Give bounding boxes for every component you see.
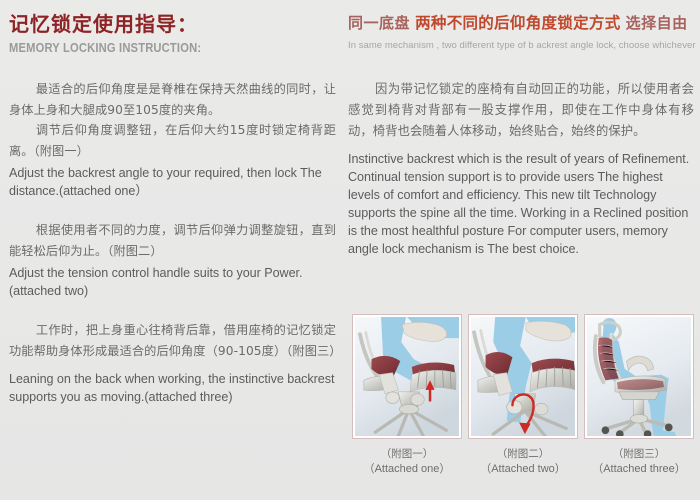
right-title-segment-b: 两种不同的后仰角度锁定方式 (415, 14, 620, 32)
figure-row: （附图一） （Attached one） (352, 314, 696, 477)
left-block-2-en-wrap: Adjust the tension control handle suits … (9, 264, 336, 300)
left-block-1-en: Adjust the backrest angle to your requir… (9, 164, 336, 200)
right-body-en-wrap: Instinctive backrest which is the result… (348, 150, 694, 258)
figure-caption-1: （附图一） （Attached one） (352, 447, 462, 477)
left-block-3-cn: 工作时，把上身重心往椅背后靠，借用座椅的记忆锁定功能帮助身体形成最适合的后仰角度… (9, 320, 336, 361)
figure-image-2 (471, 317, 575, 436)
figure-caption-3-cn: （附图三） (584, 447, 694, 462)
figure-frame-1 (352, 314, 462, 439)
left-block-3-en: Leaning on the back when working, the in… (9, 370, 336, 406)
right-body-en: Instinctive backrest which is the result… (348, 150, 694, 258)
page-title-en: MEMORY LOCKING INSTRUCTION: (9, 39, 290, 57)
chair-tilt-knob-illustration (355, 317, 459, 436)
left-block-1: 最适合的后仰角度是是脊椎在保持天然曲线的同时，让身体上身和大腿成90至105度的… (9, 79, 336, 200)
chair-seated-posture-illustration (587, 317, 691, 436)
figure-attached-one: （附图一） （Attached one） (352, 314, 462, 477)
chair-tension-knob-illustration (471, 317, 575, 436)
poster-page: 记忆锁定使用指导： MEMORY LOCKING INSTRUCTION: 最适… (0, 0, 700, 500)
right-title-en: In same mechanism , two different type o… (348, 39, 694, 53)
figure-caption-2: （附图二） （Attached two） (468, 447, 578, 477)
left-block-1-cn-1: 最适合的后仰角度是是脊椎在保持天然曲线的同时，让身体上身和大腿成90至105度的… (9, 79, 336, 120)
right-title: 同一底盘 两种不同的后仰角度锁定方式 选择自由 (348, 12, 694, 34)
figure-caption-3-en: （Attached three） (584, 462, 694, 477)
left-block-2: 根据使用者不同的力度，调节后仰弹力调整旋钮，直到能轻松后仰为止。（附图二） Ad… (9, 220, 336, 300)
figure-frame-2 (468, 314, 578, 439)
right-title-segment-c: 选择自由 (626, 14, 688, 32)
figure-attached-two: （附图二） （Attached two） (468, 314, 578, 477)
figure-caption-1-cn: （附图一） (352, 447, 462, 462)
figure-frame-3 (584, 314, 694, 439)
figure-image-3 (587, 317, 691, 436)
figure-attached-three: （附图三） （Attached three） (584, 314, 694, 477)
left-block-2-cn: 根据使用者不同的力度，调节后仰弹力调整旋钮，直到能轻松后仰为止。（附图二） (9, 220, 336, 261)
left-block-3-en-wrap: Leaning on the back when working, the in… (9, 370, 336, 406)
figure-caption-2-cn: （附图二） (468, 447, 578, 462)
left-block-2-en: Adjust the tension control handle suits … (9, 264, 336, 300)
right-body-cn: 因为带记忆锁定的座椅有自动回正的功能，所以使用者会感觉到椅背对背部有一股支撑作用… (348, 79, 694, 142)
left-column: 记忆锁定使用指导： MEMORY LOCKING INSTRUCTION: 最适… (0, 0, 348, 500)
right-body-block: 因为带记忆锁定的座椅有自动回正的功能，所以使用者会感觉到椅背对背部有一股支撑作用… (348, 79, 694, 258)
figure-caption-2-en: （Attached two） (468, 462, 578, 477)
left-block-3: 工作时，把上身重心往椅背后靠，借用座椅的记忆锁定功能帮助身体形成最适合的后仰角度… (9, 320, 336, 406)
page-title-cn: 记忆锁定使用指导： (9, 12, 336, 36)
right-title-segment-a: 同一底盘 (348, 14, 410, 32)
left-block-1-en-wrap: Adjust the backrest angle to your requir… (9, 164, 336, 200)
figure-caption-3: （附图三） （Attached three） (584, 447, 694, 477)
figure-caption-1-en: （Attached one） (352, 462, 462, 477)
figure-image-1 (355, 317, 459, 436)
left-block-1-cn-2: 调节后仰角度调整钮，在后仰大约15度时锁定椅背距离。（附图一） (9, 120, 336, 161)
